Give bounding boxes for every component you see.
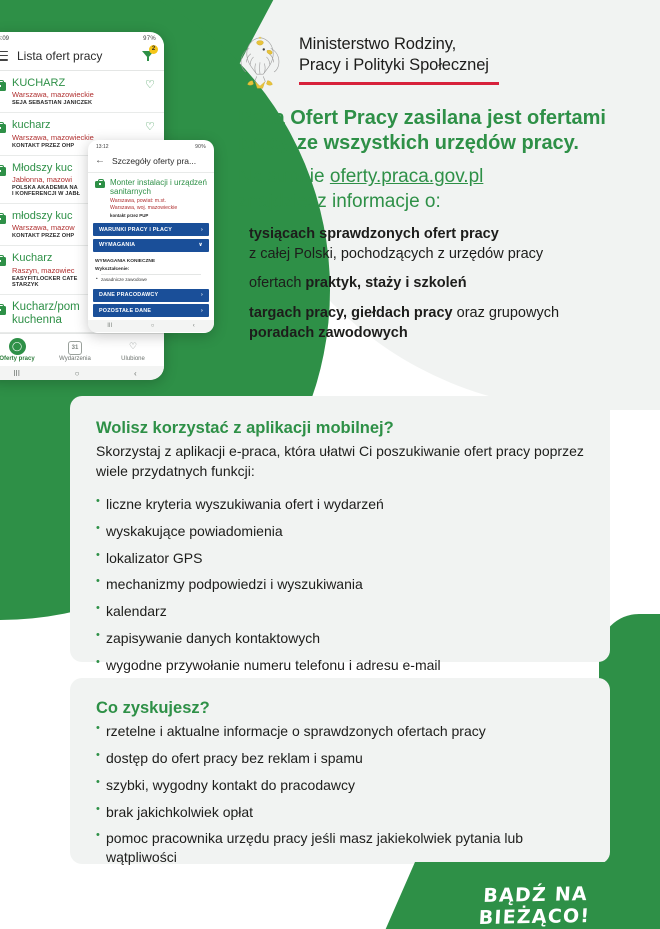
arrow-left-icon[interactable]: ←: [95, 155, 105, 166]
calendar-icon: 31: [68, 341, 82, 355]
favorite-heart-icon[interactable]: ♡: [145, 122, 156, 133]
phone-status-bar: 13:12 90%: [88, 140, 214, 152]
accordion-label: WYMAGANIA: [99, 242, 135, 248]
phone-mockup-offer-detail: 13:12 90% ← Szczegóły oferty pra... Mont…: [88, 140, 214, 333]
bullet-item: targach pracy, giełdach pracy oraz grupo…: [238, 304, 648, 343]
home-button[interactable]: ○: [151, 323, 155, 329]
card-subtext: Skorzystaj z aplikacji e-praca, która uł…: [96, 442, 584, 481]
back-button[interactable]: ‹: [193, 323, 195, 329]
website-link[interactable]: oferty.praca.gov.pl: [330, 166, 483, 187]
accordion-label: POZOSTAŁE DANE: [99, 308, 151, 314]
briefcase-icon: [0, 122, 6, 133]
footer-slogan: BĄDŹ NA BIEŻĄCO!: [429, 882, 642, 929]
bullet-pre-text: ofertach: [249, 275, 305, 291]
recents-button[interactable]: III: [13, 369, 20, 378]
requirements-heading: WYMAGANIA KONIECZNE: [95, 259, 207, 264]
offer-location-1: Warszawa, powiat: m.st.: [110, 198, 207, 205]
card-benefits: Co zyskujesz? rzetelne i aktualne inform…: [70, 678, 610, 864]
detail-title: Szczegóły oferty pra...: [112, 156, 196, 166]
tab-favorites[interactable]: ♡ Ulubione: [105, 338, 161, 362]
tab-label: Wydarzenia: [47, 356, 103, 362]
feature-bullet-list: tysiącach sprawdzonych ofert pracy z cał…: [238, 225, 648, 354]
list-item: rzetelne i aktualne informacje o sprawdz…: [96, 722, 584, 741]
briefcase-icon: [0, 80, 6, 91]
bullet-post-text: oraz grupowych: [453, 305, 559, 321]
tab-offers[interactable]: ◯ Oferty pracy: [0, 338, 45, 362]
bullet-bold-text: praktyk, staży i szkoleń: [305, 275, 466, 291]
favorite-heart-icon[interactable]: ♡: [145, 80, 156, 91]
job-employer: SEJA SEBASTIAN JANICZEK: [12, 100, 139, 106]
bottom-tab-bar: ◯ Oferty pracy 31 Wydarzenia ♡ Ulubione: [0, 333, 164, 366]
briefcase-icon: [0, 213, 6, 224]
recents-button[interactable]: III: [107, 323, 112, 329]
accordion-other-data[interactable]: POZOSTAŁE DANE ›: [93, 304, 209, 317]
accordion-label: DANE PRACODAWCY: [99, 292, 158, 298]
polish-eagle-emblem-icon: [233, 30, 287, 92]
card-feature-list: liczne kryteria wyszukiwania ofert i wyd…: [96, 495, 584, 674]
phone-status-bar: 13:09 97%: [0, 32, 164, 44]
list-item: pomoc pracownika urzędu pracy jeśli masz…: [96, 829, 584, 867]
education-key: Wykształcenie:: [95, 267, 207, 272]
filter-icon[interactable]: 2: [141, 49, 155, 63]
job-title: kucharz: [12, 119, 139, 131]
list-item[interactable]: KUCHARZ Warszawa, mazowieckie SEJA SEBAS…: [0, 71, 164, 113]
filter-badge: 2: [149, 45, 158, 54]
accordion-employer-data[interactable]: DANE PRACODAWCY ›: [93, 289, 209, 302]
accordion-requirements[interactable]: WYMAGANIA ∨: [93, 239, 209, 252]
tab-label: Oferty pracy: [0, 356, 45, 362]
briefcase-icon: [0, 165, 6, 176]
ministry-line-2: Pracy i Polityki Społecznej: [299, 55, 499, 76]
list-item: wyskakujące powiadomienia: [96, 522, 584, 541]
app-bar-title: Lista ofert pracy: [17, 49, 132, 63]
poster-stage: 13:09 97% Lista ofert pracy 2 KUCHARZ Wa…: [0, 0, 660, 929]
bullet-item: ofertach praktyk, staży i szkoleń: [238, 274, 648, 294]
list-item: mechanizmy podpowiedzi i wyszukiwania: [96, 575, 584, 594]
heart-icon: ♡: [125, 338, 142, 355]
divider: [101, 274, 201, 275]
ministry-line-1: Ministerstwo Rodziny,: [299, 34, 499, 55]
ministry-logo-block: Ministerstwo Rodziny, Pracy i Polityki S…: [233, 30, 499, 92]
chevron-right-icon: ›: [201, 308, 203, 314]
education-value: zasadnicze zawodowe: [95, 277, 207, 282]
card-benefit-list: rzetelne i aktualne informacje o sprawdz…: [96, 722, 584, 867]
card-heading: Wolisz korzystać z aplikacji mobilnej?: [96, 418, 584, 439]
list-item: lokalizator GPS: [96, 549, 584, 568]
tab-events[interactable]: 31 Wydarzenia: [47, 341, 103, 362]
accordion-label: WARUNKI PRACY I PŁACY: [99, 227, 172, 233]
briefcase-icon: [0, 255, 6, 266]
chevron-down-icon: ∨: [198, 242, 203, 248]
lead-sub-after: znajdziesz informacje o:: [238, 191, 441, 212]
chevron-right-icon: ›: [201, 227, 203, 233]
list-item: dostęp do ofert pracy bez reklam i spamu: [96, 749, 584, 768]
status-time: 13:09: [0, 36, 9, 42]
android-nav-bar: III ○ ‹: [0, 366, 164, 380]
bullet-bold-text: targach pracy, giełdach pracy: [249, 305, 453, 321]
offer-title: Monter instalacji i urządzeń sanitarnych: [110, 178, 207, 197]
offer-header: Monter instalacji i urządzeń sanitarnych…: [88, 173, 214, 221]
list-item: liczne kryteria wyszukiwania ofert i wyd…: [96, 495, 584, 514]
search-icon: ◯: [9, 338, 26, 355]
offer-location-2: Warszawa, woj. mazowieckie: [110, 205, 207, 212]
list-item: wygodne przywołanie numeru telefonu i ad…: [96, 656, 584, 675]
bullet-rest-text: poradach zawodowych: [249, 325, 408, 341]
list-item: szybki, wygodny kontakt do pracodawcy: [96, 776, 584, 795]
briefcase-icon: [0, 304, 6, 315]
bullet-bold-text: tysiącach sprawdzonych ofert pracy: [249, 226, 499, 242]
list-item: kalendarz: [96, 602, 584, 621]
bullet-item: tysiącach sprawdzonych ofert pracy z cał…: [238, 225, 648, 264]
status-battery: 97%: [143, 36, 156, 42]
android-nav-bar: III ○ ‹: [88, 320, 214, 332]
chevron-right-icon: ›: [201, 292, 203, 298]
tab-label: Ulubione: [105, 356, 161, 362]
accordion-working-conditions[interactable]: WARUNKI PRACY I PŁACY ›: [93, 223, 209, 236]
status-time: 13:12: [96, 144, 109, 150]
card-mobile-app: Wolisz korzystać z aplikacji mobilnej? S…: [70, 396, 610, 662]
hamburger-icon[interactable]: [0, 48, 8, 63]
offer-contact-note: kontakt przez PUP: [110, 213, 207, 218]
status-battery: 90%: [195, 144, 206, 150]
lead-subline: Na stronie oferty.praca.gov.pl znajdzies…: [238, 165, 648, 214]
bullet-rest-text: z całej Polski, pochodzących z urzędów p…: [249, 246, 543, 262]
home-button[interactable]: ○: [75, 369, 80, 378]
back-button[interactable]: ‹: [134, 369, 137, 378]
lead-text-block: Baza Ofert Pracy zasilana jest ofertami …: [238, 106, 648, 215]
requirements-section: WYMAGANIA KONIECZNE Wykształcenie: zasad…: [88, 254, 214, 286]
list-item: zapisywanie danych kontaktowych: [96, 629, 584, 648]
list-item: brak jakichkolwiek opłat: [96, 803, 584, 822]
ministry-name: Ministerstwo Rodziny, Pracy i Polityki S…: [299, 30, 499, 85]
card-heading: Co zyskujesz?: [96, 698, 584, 719]
briefcase-icon: [95, 179, 105, 188]
lead-headline: Baza Ofert Pracy zasilana jest ofertami …: [238, 106, 648, 156]
lead-sub-before: Na stronie: [238, 166, 330, 187]
flag-rule: [299, 82, 499, 85]
job-location: Warszawa, mazowieckie: [12, 90, 139, 99]
detail-app-bar: ← Szczegóły oferty pra...: [88, 152, 214, 173]
app-bar: Lista ofert pracy 2: [0, 44, 164, 71]
job-title: KUCHARZ: [12, 77, 139, 89]
